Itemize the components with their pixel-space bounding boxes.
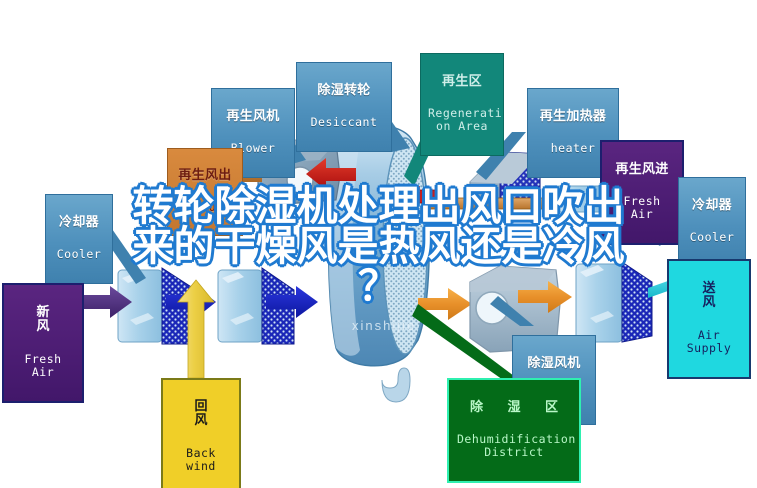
headline-overlay: 转轮除湿机处理出风口吹出 来的干燥风是热风还是冷风 ？ <box>0 186 757 307</box>
label-air-supply-en: Air Supply <box>676 329 742 355</box>
dehumidifier-diagram: xinshijie 除湿转轮 Desiccant 再生风机 Blower 再生区… <box>0 0 757 488</box>
label-regeneration-fresh-air-in-cn: 再生风进 <box>610 163 674 178</box>
headline-line-3: ？ <box>0 266 757 306</box>
label-dehumidification-district-en: Dehumidification District <box>457 433 571 459</box>
watermark-text: xinshijie <box>352 318 416 333</box>
label-fresh-air-in-en: Fresh Air <box>12 353 74 379</box>
label-regeneration-area-cn: 再生区 <box>428 75 496 90</box>
label-regeneration-heater-cn: 再生加热器 <box>534 110 612 125</box>
headline-line-1: 转轮除湿机处理出风口吹出 <box>0 186 757 226</box>
label-dehumidification-blower-cn: 除湿风机 <box>519 357 589 372</box>
label-back-wind-cn: 回 风 <box>171 400 231 429</box>
label-fresh-air-in-cn: 新 风 <box>12 306 74 335</box>
label-desiccant-rotor-en: Desiccant <box>303 116 385 129</box>
label-back-wind-en: Back wind <box>171 447 231 473</box>
label-regeneration-area-en: Regenerati on Area <box>428 107 496 133</box>
label-regeneration-area: 再生区 Regenerati on Area <box>420 53 504 156</box>
label-desiccant-rotor: 除湿转轮 Desiccant <box>296 62 392 152</box>
label-regeneration-blower-cn: 再生风机 <box>218 110 288 125</box>
label-dehumidification-district: 除 湿 区 Dehumidification District <box>447 378 581 483</box>
label-back-wind: 回 风 Back wind <box>161 378 241 488</box>
label-desiccant-rotor-cn: 除湿转轮 <box>303 84 385 99</box>
label-dehumidification-district-cn: 除 湿 区 <box>457 401 571 416</box>
headline-line-2: 来的干燥风是热风还是冷风 <box>0 226 757 266</box>
